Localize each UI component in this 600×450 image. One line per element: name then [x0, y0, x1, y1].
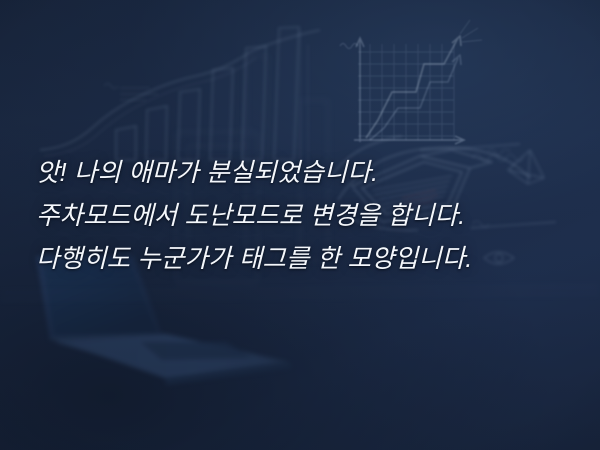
- caption-block: 앗! 나의 애마가 분실되었습니다. 주차모드에서 도난모드로 변경을 합니다.…: [36, 152, 556, 281]
- caption-line-3: 다행히도 누군가가 태그를 한 모양입니다.: [36, 238, 556, 281]
- caption-line-1: 앗! 나의 애마가 분실되었습니다.: [36, 152, 556, 195]
- slide-canvas: 앗! 나의 애마가 분실되었습니다. 주차모드에서 도난모드로 변경을 합니다.…: [0, 0, 600, 450]
- caption-line-2: 주차모드에서 도난모드로 변경을 합니다.: [36, 195, 556, 238]
